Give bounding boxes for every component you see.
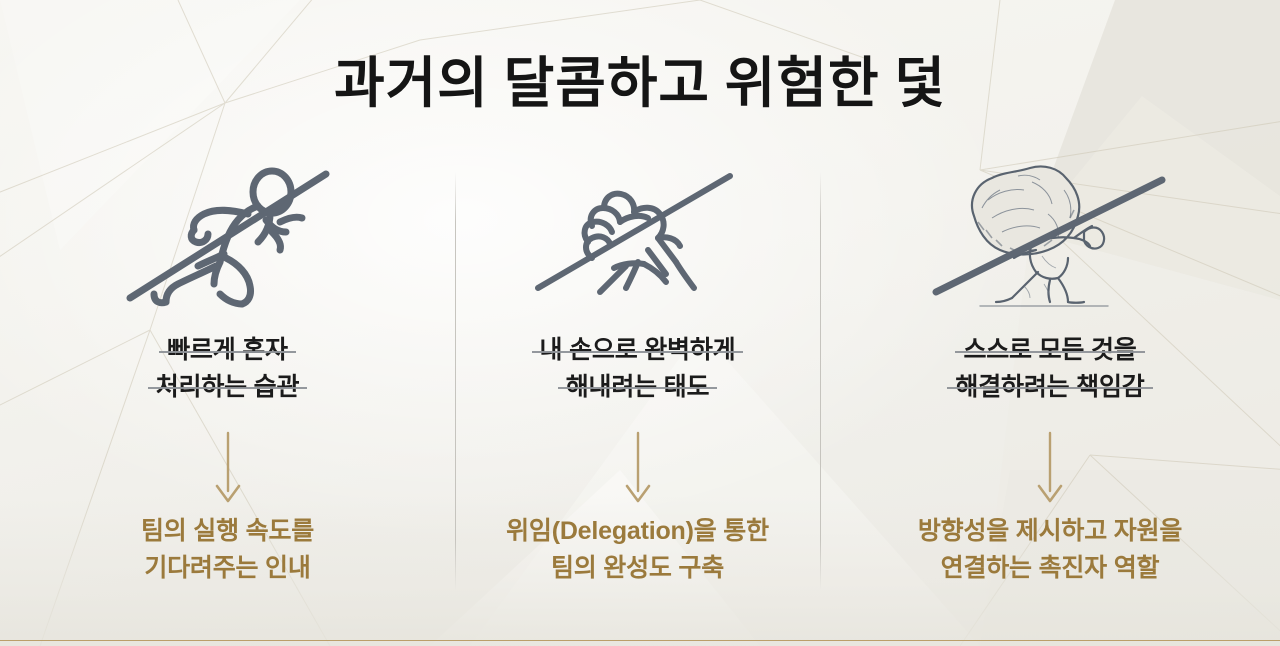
slide-root: 과거의 달콤하고 위험한 덫 [0, 0, 1280, 646]
habit-line: 해내려는 태도 [564, 369, 712, 406]
column-1: 빠르게 혼자 처리하는 습관 팀의 실행 속도를 기다려주는 인내 [0, 160, 455, 620]
habit-line: 빠르게 혼자 [165, 332, 290, 369]
habit-text-1: 빠르게 혼자 처리하는 습관 [154, 332, 302, 405]
page-title: 과거의 달콤하고 위험한 덫 [0, 38, 1280, 118]
outcome-line: 방향성을 제시하고 자원을 [918, 517, 1182, 545]
habit-text-3: 스스로 모든 것을 해결하려는 책임감 [953, 332, 1146, 405]
atlas-carrying-boulder-icon [930, 160, 1170, 310]
column-2: 내 손으로 완벽하게 해내려는 태도 위임(Delegation)을 통한 팀의… [455, 160, 820, 620]
column-3: 스스로 모든 것을 해결하려는 책임감 방향성을 제시하고 자원을 연결하는 촉… [820, 160, 1280, 620]
down-arrow-icon-1 [213, 431, 243, 505]
habit-line: 스스로 모든 것을 [961, 332, 1138, 369]
habit-line: 처리하는 습관 [154, 369, 302, 406]
running-person-with-pole-icon [108, 160, 348, 310]
clasped-hands-icon [518, 160, 758, 310]
bottom-gold-rule [0, 640, 1280, 641]
outcome-line: 연결하는 촉진자 역할 [941, 554, 1160, 582]
down-arrow-icon-2 [623, 431, 653, 505]
outcome-text-1: 팀의 실행 속도를 기다려주는 인내 [141, 513, 314, 587]
columns-container: 빠르게 혼자 처리하는 습관 팀의 실행 속도를 기다려주는 인내 [0, 160, 1280, 620]
outcome-line: 기다려주는 인내 [144, 554, 310, 582]
down-arrow-icon-3 [1035, 431, 1065, 505]
habit-line: 내 손으로 완벽하게 [538, 332, 738, 369]
habit-text-2: 내 손으로 완벽하게 해내려는 태도 [538, 332, 738, 405]
habit-line: 해결하려는 책임감 [953, 369, 1146, 406]
outcome-text-2: 위임(Delegation)을 통한 팀의 완성도 구축 [506, 513, 769, 587]
outcome-line: 팀의 완성도 구축 [551, 554, 724, 582]
outcome-line: 위임(Delegation)을 통한 [506, 517, 769, 545]
outcome-line: 팀의 실행 속도를 [141, 517, 314, 545]
outcome-text-3: 방향성을 제시하고 자원을 연결하는 촉진자 역할 [918, 513, 1182, 587]
